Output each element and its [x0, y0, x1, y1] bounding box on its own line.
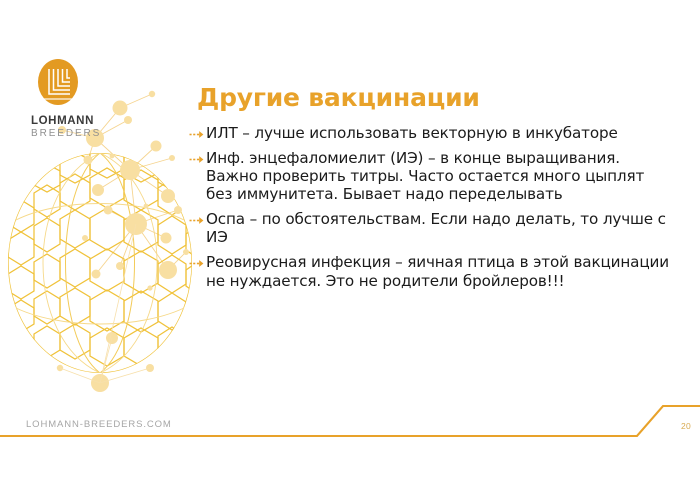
list-item: Реовирусная инфекция – яичная птица в эт…: [189, 253, 674, 289]
dashed-arrow-icon: [189, 253, 206, 268]
list-item-text: Оспа – по обстоятельствам. Если надо дел…: [206, 210, 674, 246]
lohmann-breeders-logo: LOHMANN BREEDERS: [31, 58, 109, 139]
footer-url: LOHMANN-BREEDERS.COM: [26, 419, 172, 430]
list-item-text: ИЛТ – лучше использовать векторную в инк…: [206, 124, 674, 142]
list-item: Оспа – по обстоятельствам. Если надо дел…: [189, 210, 674, 246]
page-number: 20: [681, 421, 691, 431]
logo-wordmark: LOHMANN: [31, 116, 109, 128]
logo-subtitle: BREEDERS: [31, 129, 109, 139]
list-item: Инф. энцефаломиелит (ИЭ) – в конце выращ…: [189, 149, 674, 203]
bullet-list: ИЛТ – лучше использовать векторную в инк…: [189, 124, 674, 297]
list-item: ИЛТ – лучше использовать векторную в инк…: [189, 124, 674, 142]
dashed-arrow-icon: [189, 210, 206, 225]
dashed-arrow-icon: [189, 124, 206, 139]
slide-title: Другие вакцинации: [197, 83, 480, 112]
dashed-arrow-icon: [189, 149, 206, 164]
lohmann-logo-mark: [36, 58, 80, 108]
list-item-text: Инф. энцефаломиелит (ИЭ) – в конце выращ…: [206, 149, 674, 203]
list-item-text: Реовирусная инфекция – яичная птица в эт…: [206, 253, 674, 289]
slide-canvas: LOHMANN BREEDERS Другие вакцинации ИЛТ –…: [0, 0, 700, 495]
